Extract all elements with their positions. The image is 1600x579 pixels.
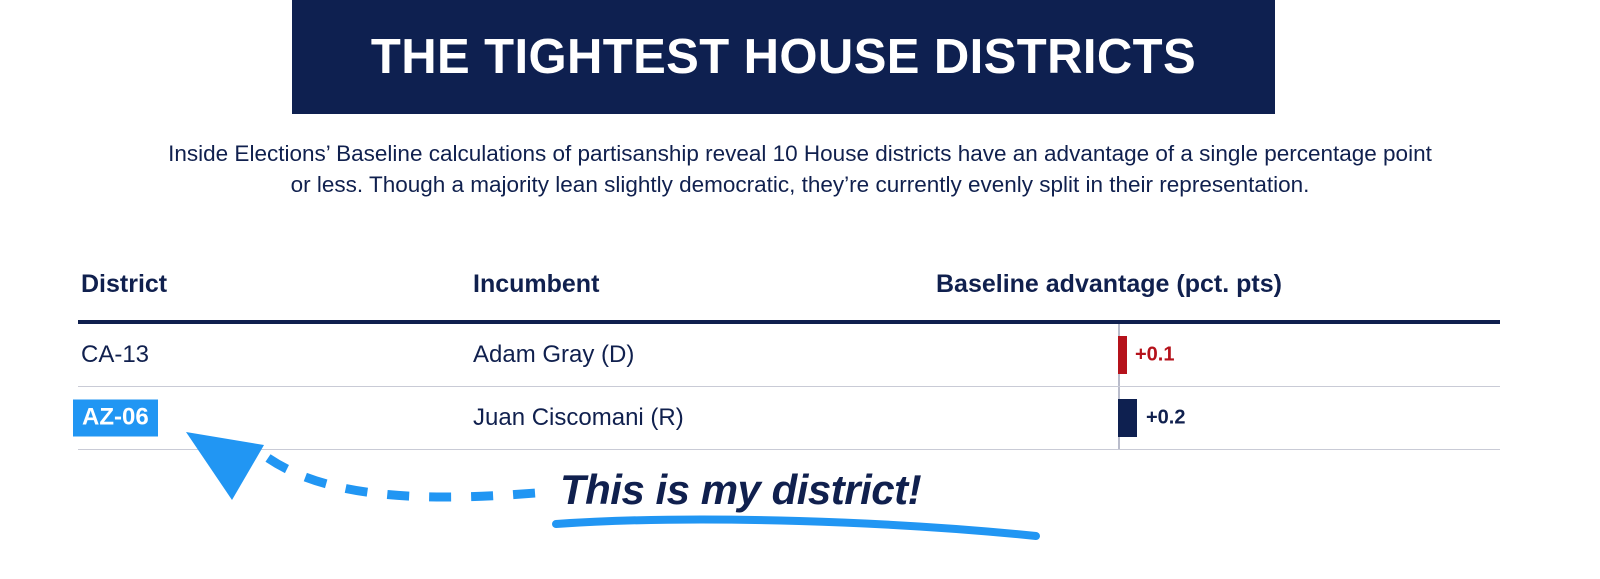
cell-district-highlighted: AZ-06 — [73, 400, 158, 437]
advantage-value-label: +0.2 — [1146, 407, 1185, 430]
cell-district: CA-13 — [81, 341, 149, 369]
table-row: CA-13 Adam Gray (D) +0.1 — [78, 324, 1500, 387]
title-banner: THE TIGHTEST HOUSE DISTRICTS — [292, 0, 1275, 114]
districts-table: District Incumbent Baseline advantage (p… — [78, 264, 1500, 450]
column-header-district: District — [81, 270, 167, 299]
page-title: THE TIGHTEST HOUSE DISTRICTS — [371, 33, 1196, 82]
subtitle-text: Inside Elections’ Baseline calculations … — [160, 138, 1440, 200]
cell-incumbent: Juan Ciscomani (R) — [473, 404, 684, 432]
column-header-advantage: Baseline advantage (pct. pts) — [936, 270, 1282, 299]
cell-incumbent: Adam Gray (D) — [473, 341, 634, 369]
table-row: AZ-06 Juan Ciscomani (R) +0.2 — [78, 387, 1500, 450]
advantage-bar — [1118, 336, 1127, 374]
advantage-value-label: +0.1 — [1135, 344, 1174, 367]
advantage-bar — [1118, 399, 1137, 437]
annotation-text: This is my district! — [560, 466, 921, 514]
dashed-arrow-path — [268, 458, 548, 497]
table-header-row: District Incumbent Baseline advantage (p… — [78, 264, 1500, 320]
column-header-incumbent: Incumbent — [473, 270, 599, 299]
annotation-underline — [556, 520, 1036, 536]
